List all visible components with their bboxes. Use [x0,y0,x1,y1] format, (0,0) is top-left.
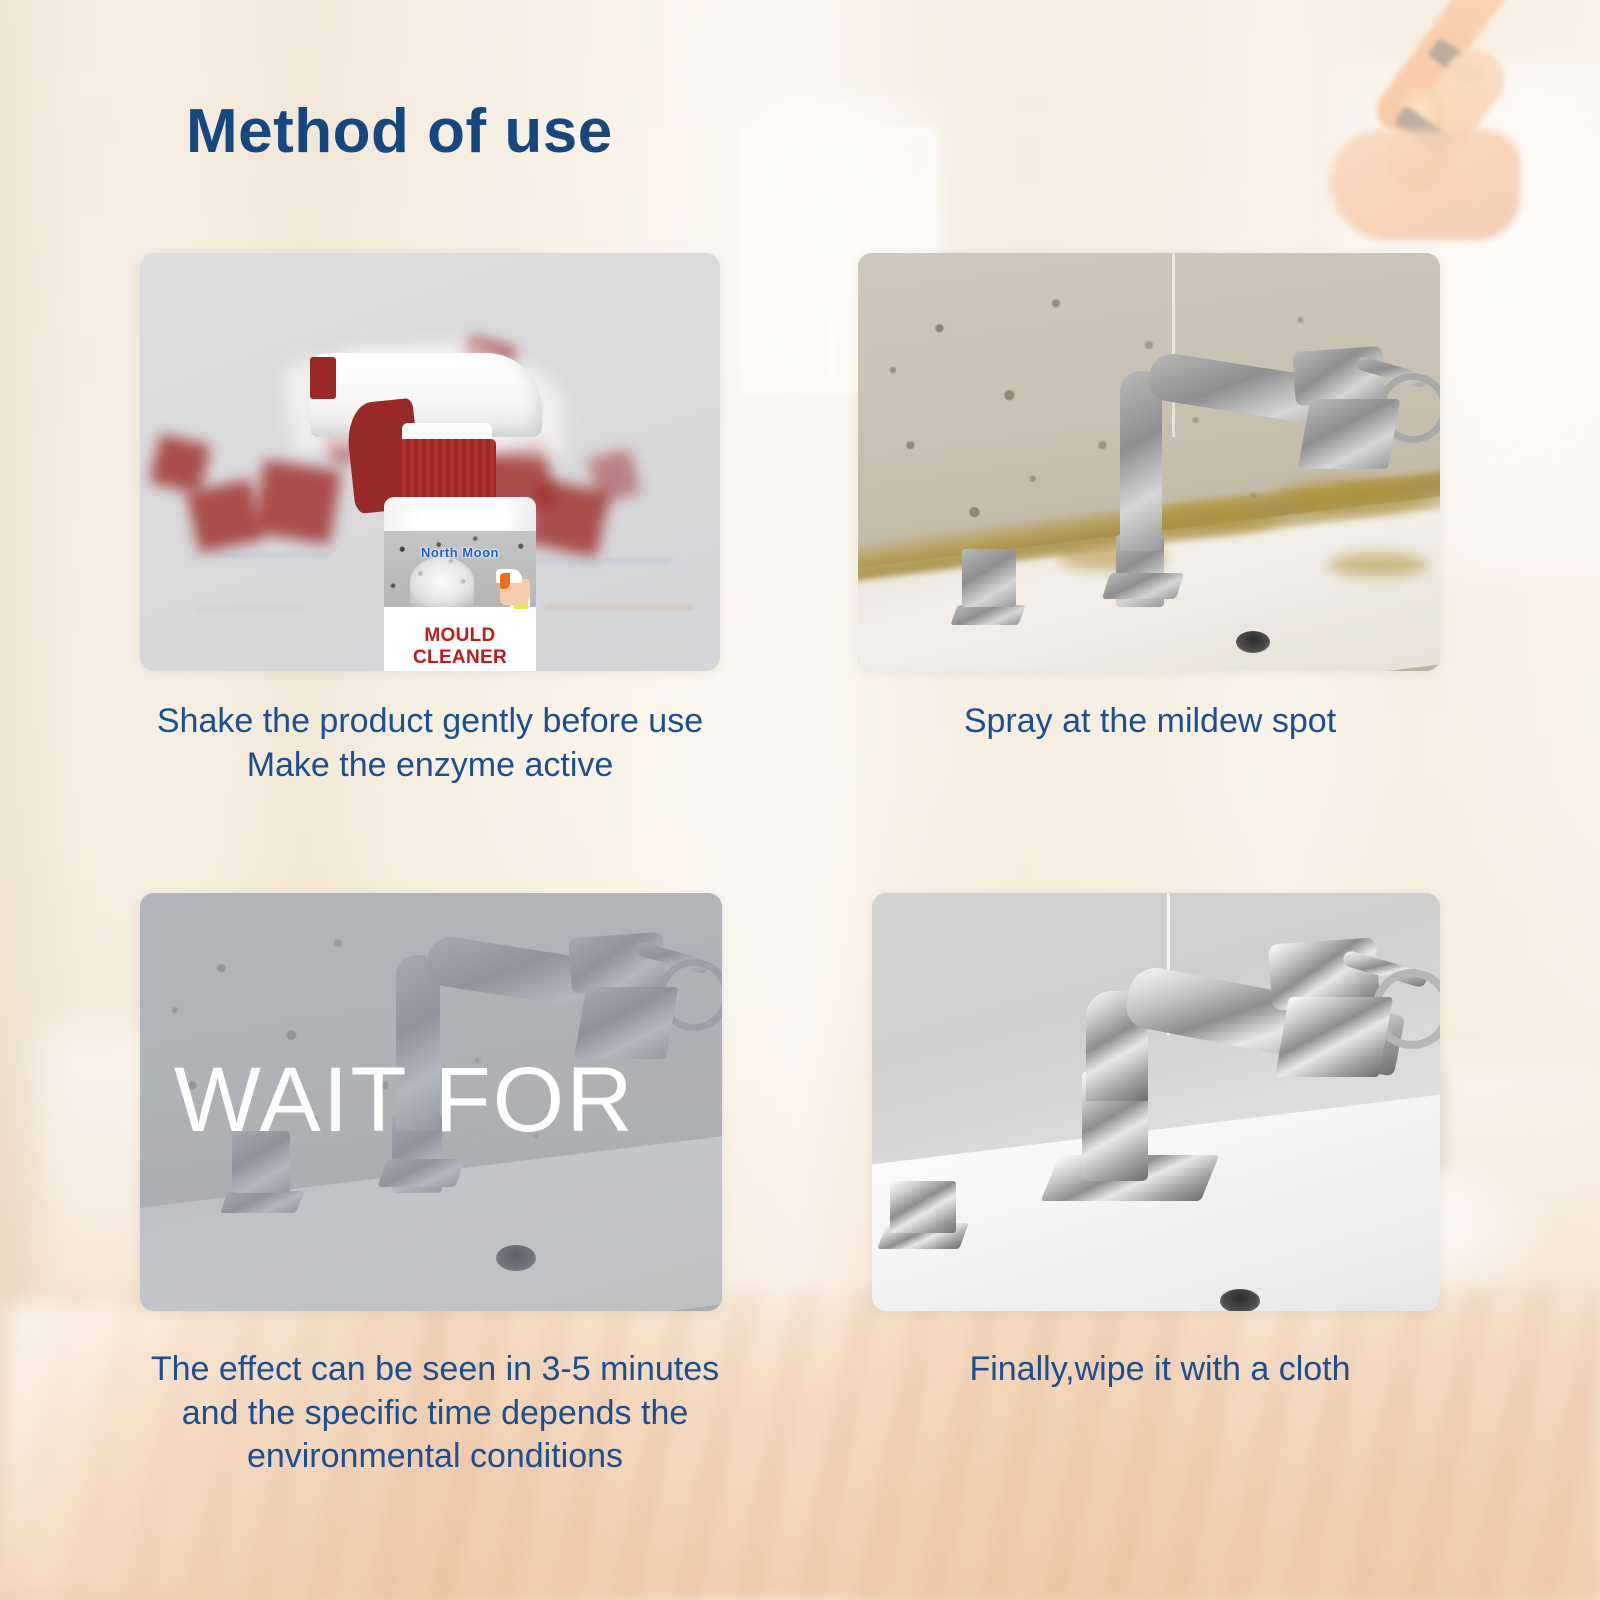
bottle-label: North Moon MOULD CLEANER [384,531,536,671]
overflow-drain-hole [1220,1289,1260,1311]
sprayer-collar [398,439,496,501]
faucet-spout-riser [1120,371,1162,551]
product-name: MOULD CLEANER [384,625,536,669]
motion-blur-square [587,448,641,503]
sprayer-nozzle [310,357,336,399]
motion-blur-square [186,479,263,553]
step-image-shake: North Moon MOULD CLEANER [140,253,720,671]
caption-spray: Spray at the mildew spot [860,700,1440,744]
label-mini-trigger [500,573,510,589]
faucet-handle-cube [962,549,1016,607]
motion-blur-square [149,433,212,494]
step-image-wipe [872,893,1440,1311]
mildew-patch [1278,479,1428,513]
faucet-lever-body [1292,346,1386,406]
label-hand-spraying-icon [484,569,532,609]
overflow-drain-hole [1236,631,1270,653]
caption-wait: The effect can be seen in 3-5 minutes an… [90,1348,780,1479]
step-image-wait: WAIT FOR [140,893,722,1311]
method-of-use-poster: Method of use [0,0,1600,1600]
mildew-patch [1158,503,1278,533]
step-image-spray [858,253,1440,671]
page-title: Method of use [186,96,613,167]
caption-shake: Shake the product gently before use Make… [100,700,760,787]
mildew-patch [1328,553,1428,577]
tile-grout-line [1172,253,1175,437]
wait-for-overlay-text: WAIT FOR [174,1054,635,1146]
brand-name: North Moon [384,545,536,560]
label-cleaned-area [410,557,474,607]
faucet-spout-base [1102,573,1184,599]
caption-wipe: Finally,wipe it with a cloth [870,1348,1450,1392]
faucet-handle-cube [890,1181,956,1233]
faucet-lever-base [1275,997,1393,1077]
faucet-handle-base [950,605,1025,625]
spray-bottle: North Moon MOULD CLEANER [280,253,580,671]
faucet-lever-base [1298,399,1400,469]
